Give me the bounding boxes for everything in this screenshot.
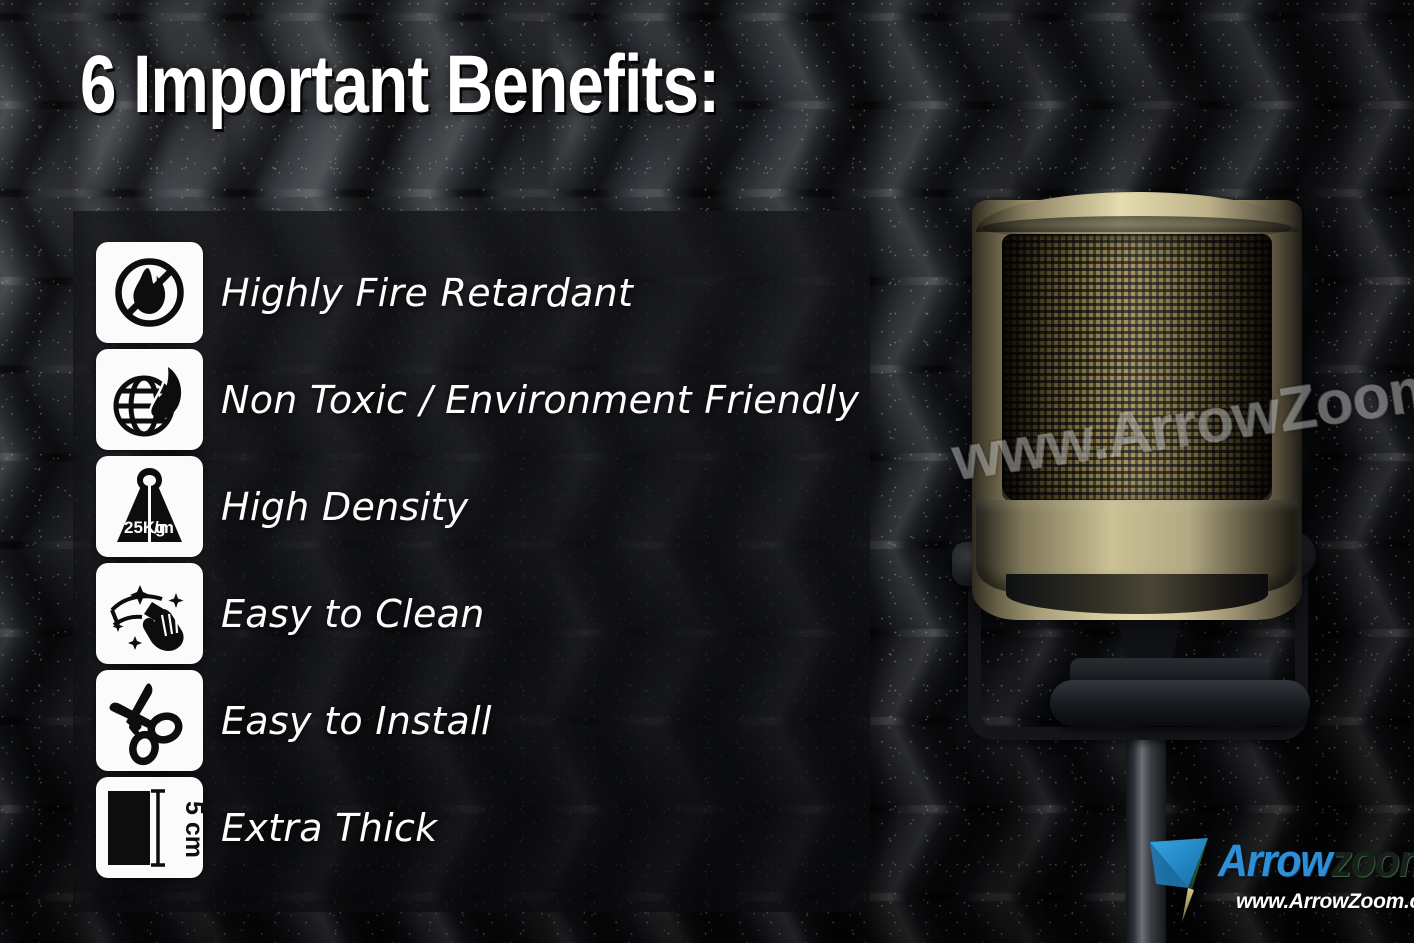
arrowzoom-logo[interactable]: Arrowzoom www.ArrowZoom.com [1148,834,1404,926]
thickness-icon: 5 cm [96,777,203,878]
mic-top-inner-lip [982,216,1292,240]
weight-value-right: /m [154,518,174,537]
benefits-list: Highly Fire Retardant Non Toxic / Env [96,239,856,881]
list-item: Easy to Install [96,667,856,774]
list-item-label: Easy to Install [221,700,492,742]
condenser-microphone [930,150,1400,943]
list-item: Highly Fire Retardant [96,239,856,346]
no-fire-icon [96,242,203,343]
logo-wordmark: Arrowzoom [1218,838,1414,883]
globe-leaf-icon [96,349,203,450]
list-item-label: Extra Thick [221,807,437,849]
list-item: 5 cm Extra Thick [96,774,856,881]
mic-mount-bar [1050,680,1310,726]
logo-brand-part2: zoom [1331,835,1414,886]
cleaning-hand-icon [96,563,203,664]
list-item-label: Highly Fire Retardant [221,272,633,314]
list-item-label: Non Toxic / Environment Friendly [221,379,859,421]
list-item-label: Easy to Clean [221,593,485,635]
list-item-label: High Density [221,486,468,528]
scissors-icon [96,670,203,771]
weight-value-exponent: 3 [175,514,182,528]
infographic-canvas: 6 Important Benefits: Highly Fire Retard… [0,0,1414,943]
list-item: Non Toxic / Environment Friendly [96,346,856,453]
weight-icon: 25Kg /m 3 [96,456,203,557]
mic-base-cap [1006,574,1268,614]
logo-url[interactable]: www.ArrowZoom.com [1236,890,1414,914]
thickness-value: 5 cm [180,801,203,858]
page-title: 6 Important Benefits: [80,44,719,126]
list-item: Easy to Clean [96,560,856,667]
mic-grille-shading [1002,234,1272,502]
logo-brand-part1: Arrow [1218,835,1331,886]
list-item: 25Kg /m 3 High Density [96,453,856,560]
